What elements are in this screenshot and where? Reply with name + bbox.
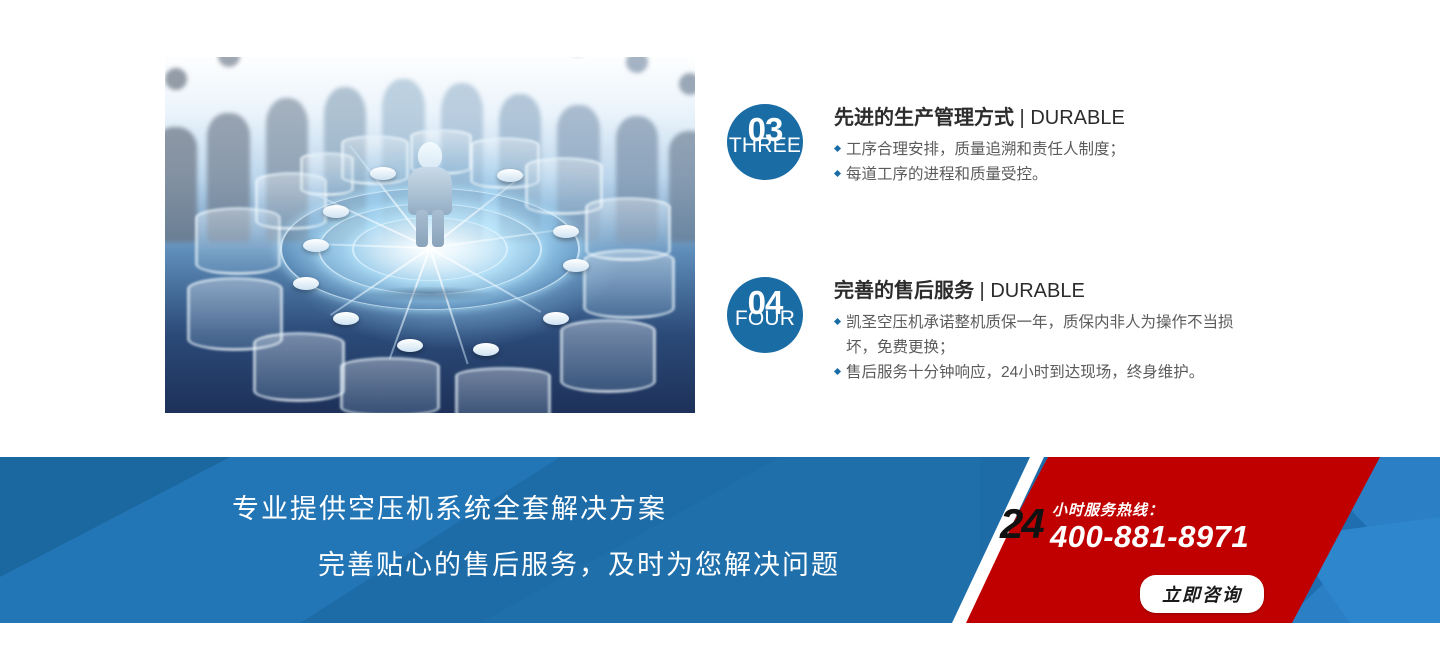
connector-node (303, 239, 329, 252)
feature-body: 先进的生产管理方式 | DURABLE 工序合理安排，质量追溯和责任人制度； 每… (834, 104, 1125, 187)
feature-title-sep: | (974, 280, 990, 302)
feature-line: 售后服务十分钟响应，24小时到达现场，终身维护。 (834, 360, 1238, 385)
hotline-block: 24 小时服务热线： 400-881-8971 立即咨询 (1000, 497, 1300, 617)
feature-title-en: DURABLE (990, 280, 1084, 302)
badge-word: THREE (727, 135, 803, 156)
connector-node (293, 277, 319, 290)
page-root: 03 THREE 先进的生产管理方式 | DURABLE 工序合理安排，质量追溯… (0, 0, 1440, 663)
connector-node (473, 343, 499, 356)
feature-title-en: DURABLE (1030, 107, 1124, 129)
person-shadow (365, 286, 495, 302)
node-cylinder (340, 357, 440, 413)
feature-block-03: 03 THREE 先进的生产管理方式 | DURABLE 工序合理安排，质量追溯… (727, 104, 1125, 187)
node-cylinder (583, 249, 675, 319)
hotline-label: 小时服务热线： (1052, 499, 1164, 520)
feature-title: 先进的生产管理方式 | DURABLE (834, 106, 1125, 130)
network-concept-photo (165, 57, 695, 413)
connector-node (370, 167, 396, 180)
feature-line: 工序合理安排，质量追溯和责任人制度； (834, 137, 1125, 162)
bottom-cta-banner: 专业提供空压机系统全套解决方案 完善贴心的售后服务，及时为您解决问题 24 小时… (0, 457, 1440, 623)
connector-node (563, 259, 589, 272)
person-figure (407, 142, 453, 247)
badge-04: 04 FOUR (727, 277, 803, 353)
node-cylinder (560, 319, 656, 393)
connector-node (497, 169, 523, 182)
connector-node (397, 339, 423, 352)
hotline-24-graphic: 24 (1000, 503, 1043, 545)
connector-node (333, 312, 359, 325)
feature-line-list: 凯圣空压机承诺整机质保一年，质保内非人为操作不当损坏，免费更换； 售后服务十分钟… (834, 310, 1238, 385)
connector-node (543, 312, 569, 325)
slogan-line-1: 专业提供空压机系统全套解决方案 (232, 496, 667, 523)
feature-body: 完善的售后服务 | DURABLE 凯圣空压机承诺整机质保一年，质保内非人为操作… (834, 277, 1238, 385)
badge-03: 03 THREE (727, 104, 803, 180)
feature-title-sep: | (1014, 107, 1030, 129)
feature-line-list: 工序合理安排，质量追溯和责任人制度； 每道工序的进程和质量受控。 (834, 137, 1125, 187)
badge-word: FOUR (727, 308, 803, 329)
feature-title: 完善的售后服务 | DURABLE (834, 279, 1238, 303)
hotline-phone-number: 400-881-8971 (1050, 519, 1249, 555)
slogan-line-2: 完善贴心的售后服务，及时为您解决问题 (318, 552, 840, 579)
banner-slogan: 专业提供空压机系统全套解决方案 完善贴心的售后服务，及时为您解决问题 (0, 457, 960, 623)
connector-node (323, 205, 349, 218)
consult-now-button[interactable]: 立即咨询 (1140, 575, 1264, 613)
feature-title-cn: 先进的生产管理方式 (834, 107, 1014, 129)
hotline-24-text: 24 (1000, 500, 1043, 547)
feature-title-cn: 完善的售后服务 (834, 280, 974, 302)
node-cylinder (253, 332, 345, 402)
feature-block-04: 04 FOUR 完善的售后服务 | DURABLE 凯圣空压机承诺整机质保一年，… (727, 277, 1238, 385)
node-cylinder (455, 367, 551, 413)
connector-node (553, 225, 579, 238)
feature-line: 每道工序的进程和质量受控。 (834, 162, 1125, 187)
feature-line: 凯圣空压机承诺整机质保一年，质保内非人为操作不当损坏，免费更换； (834, 310, 1238, 360)
